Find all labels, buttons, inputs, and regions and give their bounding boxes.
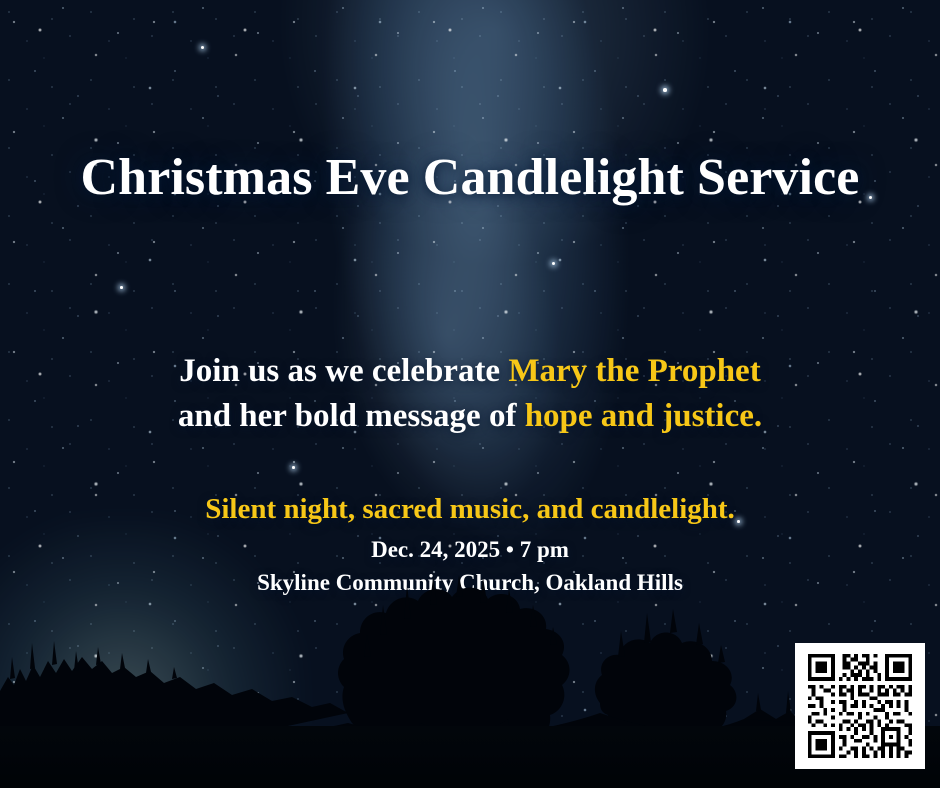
event-poster: Christmas Eve Candlelight Service Join u… [0, 0, 940, 788]
celebrate-line-2-accent: hope and justice. [525, 398, 762, 434]
celebrate-line-1-prefix: Join us as we celebrate [179, 353, 508, 389]
poster-title: Christmas Eve Candlelight Service [0, 148, 940, 207]
celebrate-block: Join us as we celebrate Mary the Prophet… [0, 349, 940, 439]
celebrate-line-1: Join us as we celebrate Mary the Prophet [0, 349, 940, 394]
celebrate-line-2: and her bold message of hope and justice… [0, 394, 940, 439]
qr-code-panel[interactable] [795, 643, 925, 769]
event-tagline: Silent night, sacred music, and candleli… [0, 492, 940, 526]
event-datetime: Dec. 24, 2025 • 7 pm [0, 535, 940, 565]
event-location: Skyline Community Church, Oakland Hills [0, 568, 940, 598]
celebrate-line-1-accent: Mary the Prophet [508, 353, 760, 389]
celebrate-line-2-prefix: and her bold message of [178, 398, 525, 434]
details-block: Silent night, sacred music, and candleli… [0, 492, 940, 598]
qr-code[interactable] [804, 650, 916, 762]
